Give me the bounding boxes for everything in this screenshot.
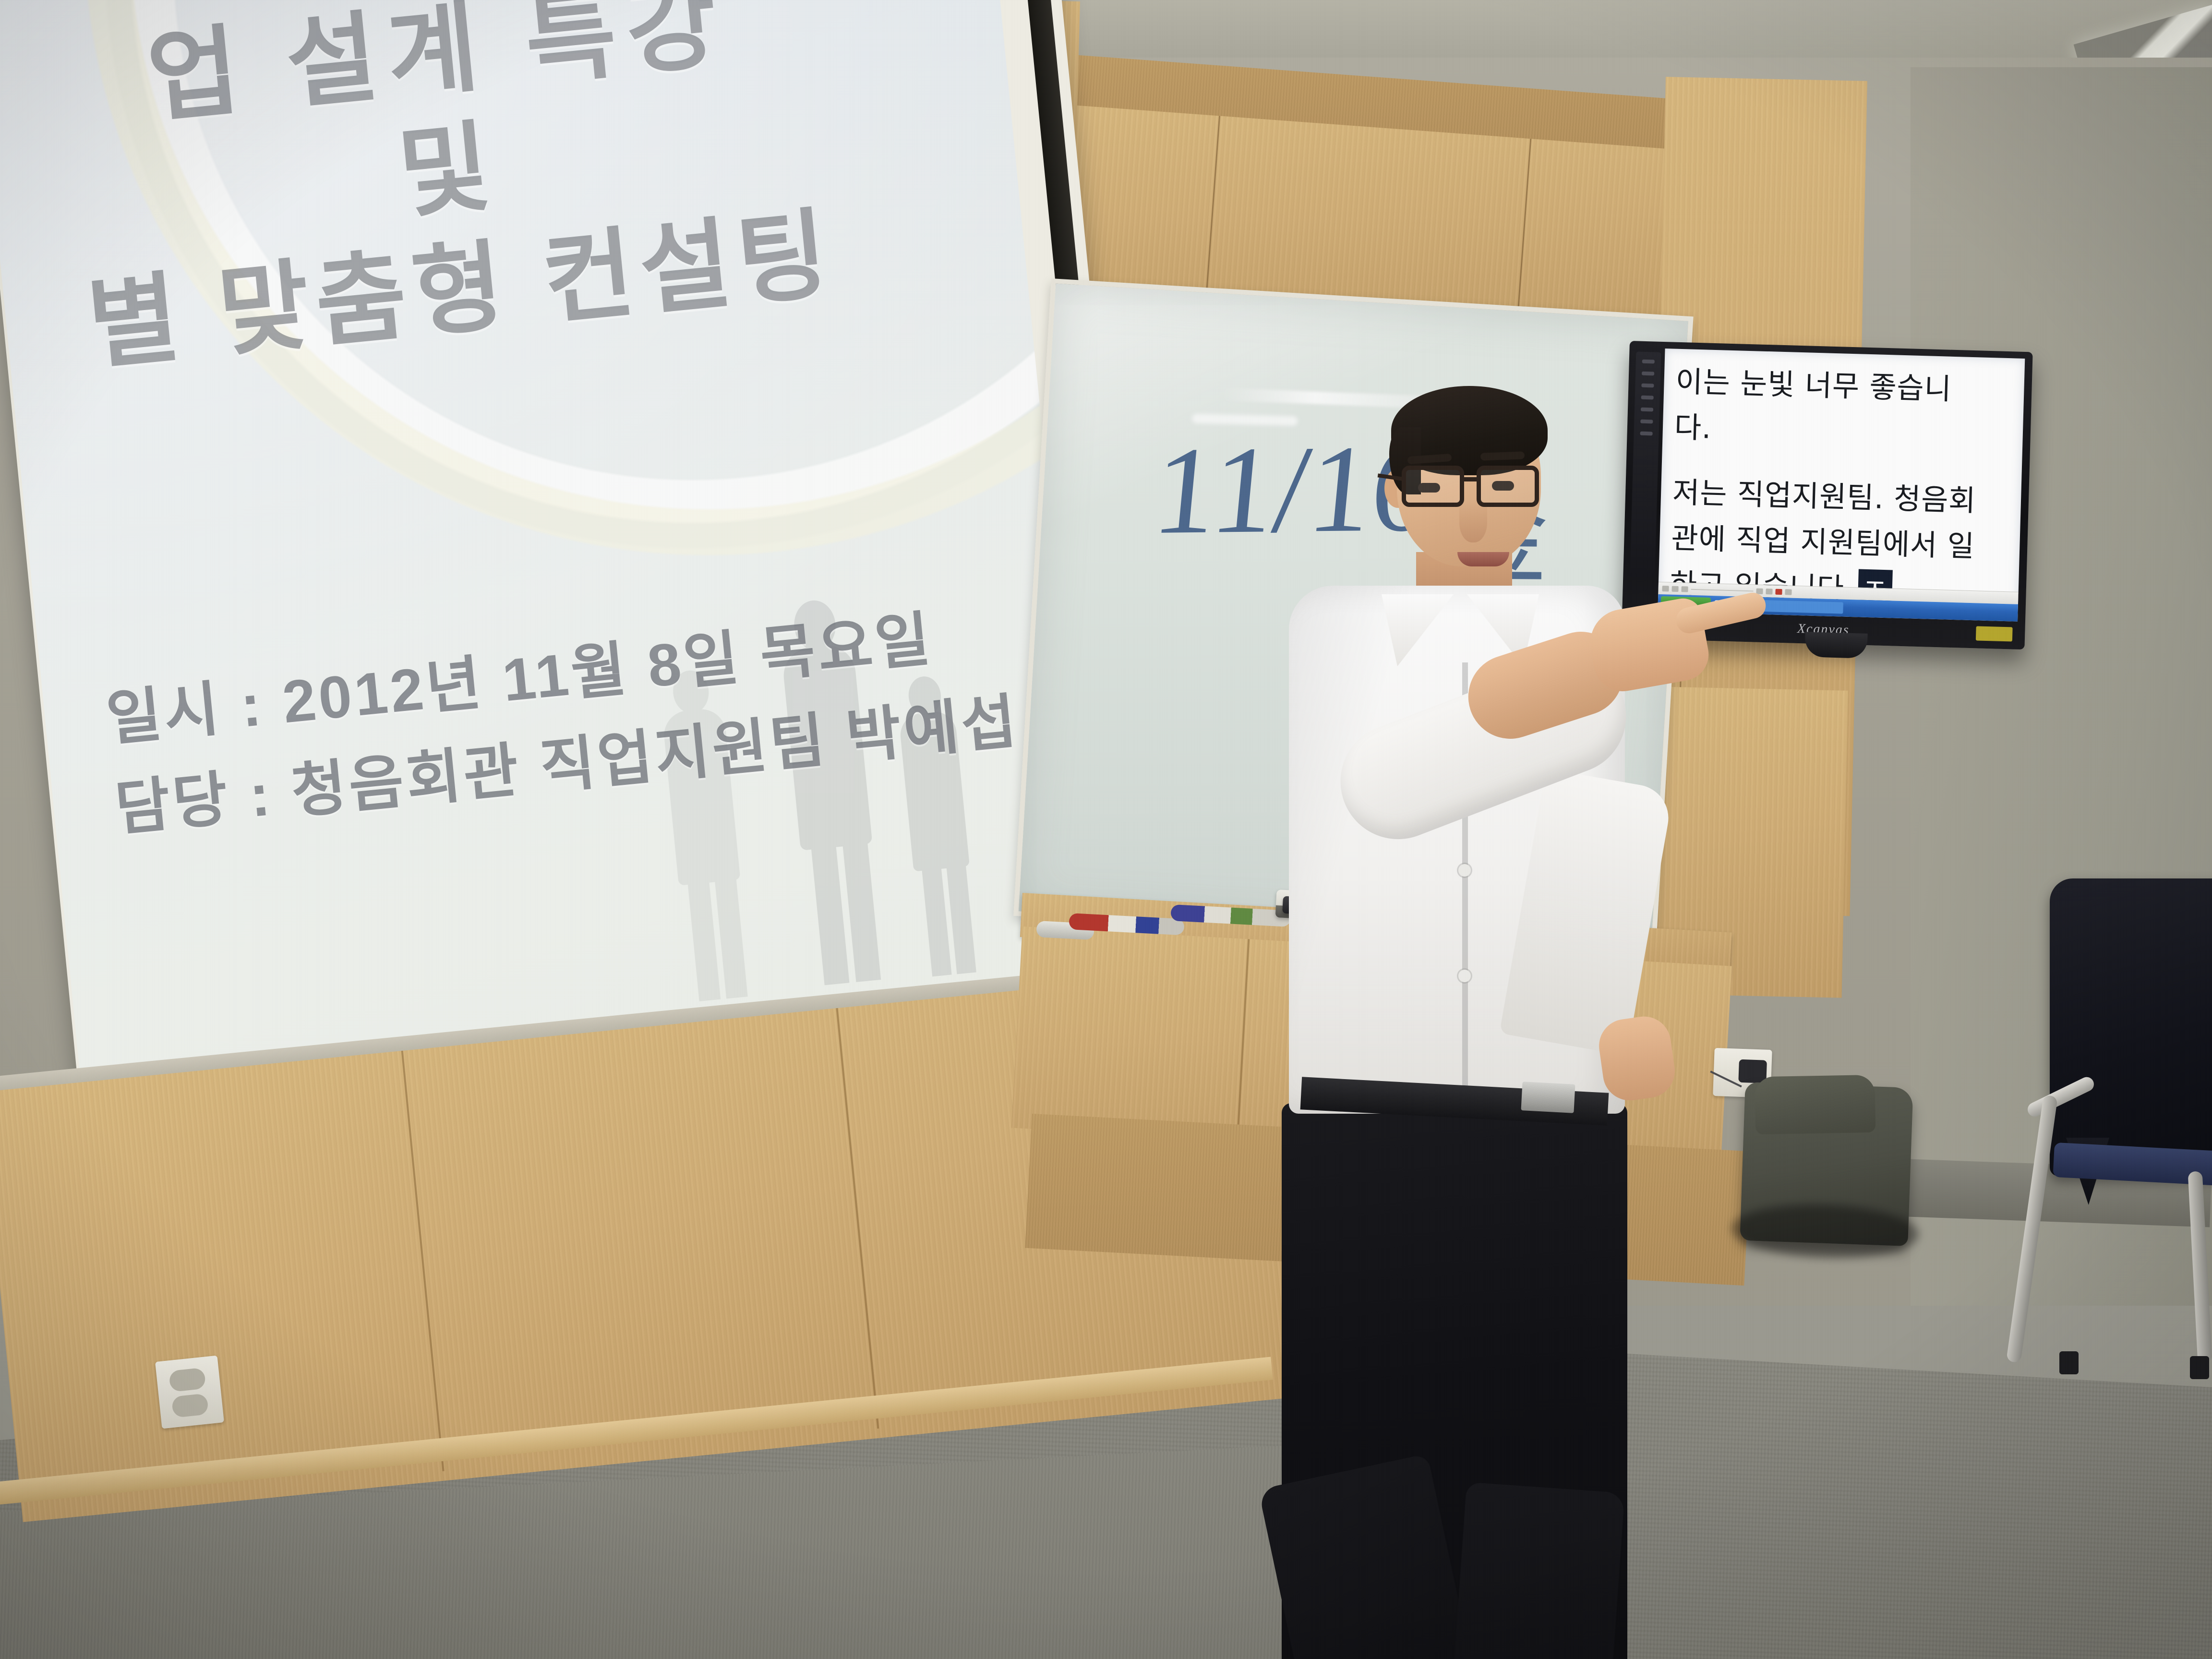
tv-button-menu[interactable] [1642, 372, 1654, 376]
chair-leg-front-right [2188, 1171, 2212, 1363]
presenter-belt-buckle [1521, 1082, 1575, 1113]
tv-button-input[interactable] [1641, 384, 1654, 388]
tv-text-line-4: 관에 직업 지원팀에서 일 [1671, 518, 2009, 568]
presenter-brow-right [1480, 451, 1525, 460]
chair-foot-right [2190, 1356, 2209, 1379]
eyeglass-lens-right [1477, 466, 1539, 507]
tv-text-line-1: 이는 눈빛 너무 좋습니 [1675, 361, 2014, 412]
tv-wall-mount [1804, 632, 1867, 659]
wall-power-outlet-left [155, 1356, 224, 1429]
chair-foot-left [2059, 1351, 2079, 1374]
eyeglass-bridge [1464, 477, 1480, 481]
presenter-leg-right [1443, 1482, 1624, 1659]
stacking-chair[interactable] [2011, 878, 2212, 1325]
toolbar-icon-italic[interactable] [1766, 589, 1772, 594]
backpack-on-floor[interactable] [1740, 1082, 1913, 1246]
power-cord [1710, 1070, 1742, 1087]
tv-text-line-2: 다. [1674, 407, 2013, 457]
toolbar-icon-color[interactable] [1775, 589, 1782, 594]
lecture-room-photo: 업 설계 특강 및 별 맞춤형 컨설팅 [0, 0, 2212, 1659]
toolbar-icon-align[interactable] [1785, 589, 1791, 595]
presenter-shirt-button-2 [1458, 864, 1471, 877]
tv-button-power[interactable] [1642, 360, 1655, 364]
chair-leg-front-left [2006, 1095, 2058, 1363]
presenter-mouth [1457, 552, 1509, 566]
black-jacket-on-chair[interactable] [2050, 878, 2212, 1176]
tv-power-led [1976, 626, 2013, 641]
backpack-flap [1755, 1075, 1875, 1134]
projected-slide: 업 설계 특강 및 별 맞춤형 컨설팅 [0, 0, 1104, 1154]
tv-text-line-3: 저는 직업지원팀. 청음회 [1672, 472, 2011, 522]
presenter-shirt-button-3 [1458, 970, 1471, 982]
presenter-eyeglasses [1397, 466, 1547, 512]
eyeglass-lens-left [1402, 466, 1464, 507]
presenter-trousers [1282, 1103, 1627, 1659]
presenter [1190, 394, 1719, 1555]
